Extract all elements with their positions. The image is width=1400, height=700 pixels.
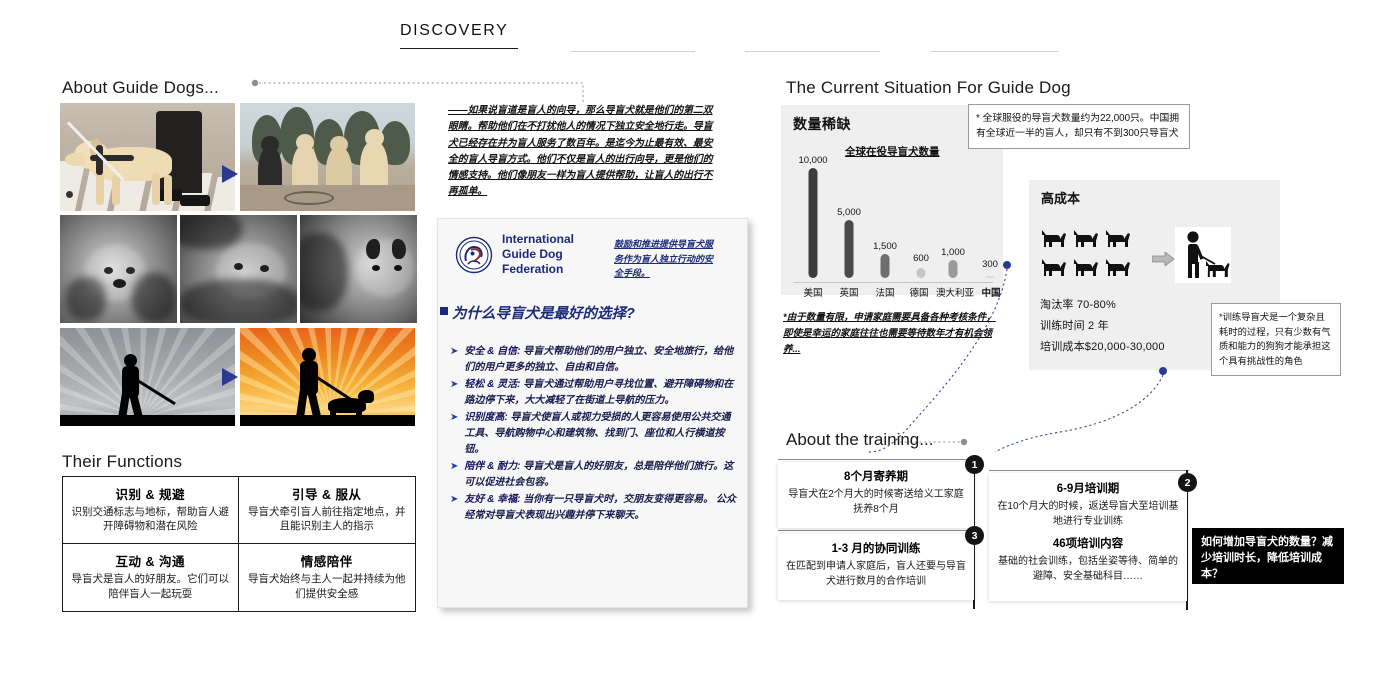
bar-rect bbox=[949, 260, 958, 278]
function-title: 识别 & 规避 bbox=[71, 484, 231, 503]
photo-blind-man-with-dog-sunset bbox=[240, 328, 415, 426]
table-row: 互动 & 沟通 导盲犬是盲人的好朋友。它们可以陪伴盲人一起玩耍 情感陪伴 导盲犬… bbox=[62, 544, 415, 612]
benefit-text: 轻松 & 灵活: 导盲犬通过帮助用户寻找位置、避开障碍物和在路边停下来，大大减轻… bbox=[464, 377, 740, 408]
blue-arrow-left-bottom bbox=[222, 368, 238, 386]
igdf-name-line: International bbox=[502, 232, 574, 247]
photo-dog-portrait-1 bbox=[60, 215, 177, 323]
title-underline bbox=[400, 48, 518, 49]
bar-value-label: 1,000 bbox=[941, 247, 965, 258]
question-bullet-square bbox=[440, 307, 448, 315]
chevron-right-icon: ➤ bbox=[450, 492, 458, 523]
list-item: ➤ 友好 & 幸福: 当你有一只导盲犬时，交朋友变得更容易。 公众经常对导盲犬表… bbox=[450, 492, 740, 523]
bar-rect bbox=[881, 254, 890, 278]
list-item: ➤ 安全 & 自信: 导盲犬帮助他们的用户独立、安全地旅行，给他们的用户更多的独… bbox=[450, 344, 740, 375]
bar-group-5: 300 bbox=[978, 158, 1002, 278]
benefit-text: 陪伴 & 耐力: 导盲犬是盲人的好朋友，总是陪伴他们旅行。这可以促进社会包容。 bbox=[464, 459, 740, 490]
dog-icon-row bbox=[1042, 226, 1136, 251]
bar-value-label: 300 bbox=[982, 259, 998, 270]
timeline-card-2: 6-9月培训期 在10个月大的时候，返送导盲犬至培训基地进行专业训练 46项培训… bbox=[989, 473, 1187, 601]
list-item: ➤ 轻松 & 灵活: 导盲犬通过帮助用户寻找位置、避开障碍物和在路边停下来，大大… bbox=[450, 377, 740, 408]
benefit-text: 友好 & 幸福: 当你有一只导盲犬时，交朋友变得更容易。 公众经常对导盲犬表现出… bbox=[464, 492, 740, 523]
cost-stats: 淘汰率 70-80% 训练时间 2 年 培训成本$20,000-30,000 bbox=[1040, 296, 1165, 359]
category-label: 中国 bbox=[981, 285, 1000, 299]
bar-group-0: 10,000 bbox=[801, 158, 825, 278]
igdf-name: International Guide Dog Federation bbox=[502, 232, 574, 277]
guide-dog-user-icon-box bbox=[1175, 227, 1231, 283]
bar-value-label: 600 bbox=[913, 253, 929, 264]
benefit-list: ➤ 安全 & 自信: 导盲犬帮助他们的用户独立、安全地旅行，给他们的用户更多的独… bbox=[450, 344, 740, 526]
bar-group-2: 1,500 bbox=[873, 158, 897, 278]
chevron-right-icon: ➤ bbox=[450, 377, 458, 408]
benefit-lead: 友好 & 幸福: bbox=[464, 494, 520, 505]
bar-rect bbox=[845, 220, 854, 278]
function-title: 互动 & 沟通 bbox=[71, 551, 231, 570]
note-limited-supply: *由于数量有限，申请家庭需要具备各种考核条件，即使是幸运的家庭往往也需要等待数年… bbox=[783, 310, 1001, 358]
bar-group-1: 5,000 bbox=[837, 158, 861, 278]
header-separator-1 bbox=[570, 51, 695, 52]
poster-page: DISCOVERY About Guide Dogs... bbox=[0, 0, 1400, 700]
high-cost-title: 高成本 bbox=[1041, 188, 1080, 207]
function-cell-0: 识别 & 规避 识别交通标志与地标，帮助盲人避开障碍物和潜在风险 bbox=[62, 476, 240, 545]
timeline-number-1: 1 bbox=[965, 455, 984, 474]
blue-arrow-left-top bbox=[222, 165, 238, 183]
function-cell-3: 情感陪伴 导盲犬始终与主人一起并持续为他们提供安全感 bbox=[238, 543, 416, 612]
function-cell-1: 引导 & 服从 导盲犬牵引盲人前往指定地点，并且能识别主人的指示 bbox=[238, 476, 416, 545]
category-label: 美国 bbox=[803, 285, 822, 299]
photo-guide-dogs-group bbox=[240, 103, 415, 211]
blind-person-with-dog-icon bbox=[1175, 227, 1231, 283]
chevron-right-icon: ➤ bbox=[450, 410, 458, 457]
category-label: 英国 bbox=[839, 285, 858, 299]
callout-global-numbers: * 全球服役的导盲犬数量约为22,000只。中国拥有全球近一半的盲人，却只有不到… bbox=[968, 104, 1190, 149]
arrow-right-icon bbox=[1152, 252, 1174, 266]
timeline-extra-body: 基础的社会训练，包括坐姿等待、简单的避障、安全基础科目…… bbox=[995, 554, 1181, 584]
timeline-body: 在匹配到申请人家庭后，盲人还要与导盲犬进行数月的合作培训 bbox=[784, 559, 968, 589]
timeline-rule-2 bbox=[989, 470, 1189, 471]
dog-icon bbox=[1106, 255, 1133, 280]
igdf-name-line: Guide Dog bbox=[502, 247, 574, 262]
functions-table: 识别 & 规避 识别交通标志与地标，帮助盲人避开障碍物和潜在风险 引导 & 服从… bbox=[62, 476, 415, 612]
chart-title: 全球在役导盲犬数量 bbox=[845, 144, 940, 159]
bar-rect bbox=[986, 276, 995, 278]
bar-value-label: 1,500 bbox=[873, 241, 897, 252]
why-question: 为什么导盲犬是最好的选择? bbox=[452, 302, 635, 323]
bar-rect bbox=[917, 268, 926, 278]
igdf-name-line: Federation bbox=[502, 262, 574, 277]
photo-blind-man-silhouette-gray bbox=[60, 328, 235, 426]
intro-note: ——如果说盲道是盲人的向导，那么导盲犬就是他们的第二双眼睛。帮助他们在不打扰他人… bbox=[448, 103, 718, 201]
table-row: 识别 & 规避 识别交通标志与地标，帮助盲人避开障碍物和潜在风险 引导 & 服从… bbox=[62, 476, 415, 544]
function-title: 引导 & 服从 bbox=[247, 484, 407, 503]
page-title: DISCOVERY bbox=[400, 22, 508, 40]
bar-rect bbox=[809, 168, 818, 278]
list-item: ➤ 陪伴 & 耐力: 导盲犬是盲人的好朋友，总是陪伴他们旅行。这可以促进社会包容… bbox=[450, 459, 740, 490]
bar-group-3: 600 bbox=[909, 158, 933, 278]
timeline-title: 6-9月培训期 bbox=[995, 480, 1181, 496]
timeline-rule-3 bbox=[778, 530, 974, 531]
chevron-right-icon: ➤ bbox=[450, 344, 458, 375]
benefit-lead: 轻松 & 灵活: bbox=[464, 379, 520, 390]
chart-category-labels: 美国 英国 法国 德国 澳大利亚 中国 bbox=[793, 285, 998, 299]
timeline-card-1: 8个月寄养期 导盲犬在2个月大的时候寄送给义工家庭抚养8个月 bbox=[778, 462, 974, 528]
igdf-logo-icon bbox=[455, 236, 493, 274]
igdf-block: International Guide Dog Federation bbox=[455, 232, 574, 277]
timeline-body: 导盲犬在2个月大的时候寄送给义工家庭抚养8个月 bbox=[784, 487, 968, 517]
photo-dog-portrait-3 bbox=[300, 215, 417, 323]
bar-value-label: 5,000 bbox=[837, 207, 861, 218]
dog-icon bbox=[1106, 226, 1133, 251]
igdf-mission-note: 鼓励和推进提供导盲犬服务作为盲人独立行动的安全手段。 bbox=[614, 237, 719, 281]
bar-value-label: 10,000 bbox=[798, 155, 827, 166]
benefit-text: 识别度高: 导盲犬使盲人或视力受损的人更容易使用公共交通工具、导航购物中心和建筑… bbox=[464, 410, 740, 457]
timeline-extra-title: 46项培训内容 bbox=[995, 535, 1181, 551]
current-situation-title: The Current Situation For Guide Dog bbox=[786, 78, 1071, 98]
benefit-lead: 陪伴 & 耐力: bbox=[464, 461, 520, 472]
photo-guide-dog-crosswalk bbox=[60, 103, 235, 211]
function-body: 导盲犬牵引盲人前往指定地点，并且能识别主人的指示 bbox=[247, 505, 407, 535]
bar-group-4: 1,000 bbox=[941, 158, 965, 278]
list-item: ➤ 识别度高: 导盲犬使盲人或视力受损的人更容易使用公共交通工具、导航购物中心和… bbox=[450, 410, 740, 457]
header-separator-3 bbox=[930, 51, 1058, 52]
benefit-text: 安全 & 自信: 导盲犬帮助他们的用户独立、安全地旅行，给他们的用户更多的独立、… bbox=[464, 344, 740, 375]
benefit-lead: 安全 & 自信: bbox=[464, 346, 520, 357]
function-title: 情感陪伴 bbox=[247, 551, 407, 570]
final-question-box: 如何增加导盲犬的数量？减少培训时长，降低培训成本？ bbox=[1192, 528, 1344, 584]
benefit-lead: 识别度高: bbox=[464, 412, 507, 423]
timeline-rule-1 bbox=[778, 459, 974, 460]
timeline-number-3: 3 bbox=[965, 526, 984, 545]
dog-icon bbox=[1042, 226, 1069, 251]
function-body: 识别交通标志与地标，帮助盲人避开障碍物和潜在风险 bbox=[71, 505, 231, 535]
function-body: 导盲犬是盲人的好朋友。它们可以陪伴盲人一起玩耍 bbox=[71, 572, 231, 602]
dog-icon-row bbox=[1042, 255, 1136, 280]
cost-stat: 训练时间 2 年 bbox=[1040, 317, 1165, 333]
category-label: 澳大利亚 bbox=[936, 285, 974, 299]
dog-icon bbox=[1042, 255, 1069, 280]
function-body: 导盲犬始终与主人一起并持续为他们提供安全感 bbox=[247, 572, 407, 602]
photo-dog-portrait-2 bbox=[180, 215, 297, 323]
dog-icon bbox=[1074, 226, 1101, 251]
their-functions-title: Their Functions bbox=[62, 452, 182, 472]
timeline-title: 1-3 月的协同训练 bbox=[784, 540, 968, 556]
header-separator-2 bbox=[745, 51, 880, 52]
timeline-body: 在10个月大的时候，返送导盲犬至培训基地进行专业训练 bbox=[995, 499, 1181, 529]
category-label: 德国 bbox=[909, 285, 928, 299]
cost-stat: 淘汰率 70-80% bbox=[1040, 296, 1165, 312]
scarcity-heading: 数量稀缺 bbox=[793, 114, 851, 134]
dog-icons-group bbox=[1042, 226, 1136, 284]
about-training-title: About the training... bbox=[786, 430, 933, 450]
timeline-card-3: 1-3 月的协同训练 在匹配到申请人家庭后，盲人还要与导盲犬进行数月的合作培训 bbox=[778, 534, 974, 600]
callout-training-difficulty: *训练导盲犬是一个复杂且耗时的过程，只有少数有气质和能力的狗狗才能承担这个具有挑… bbox=[1211, 303, 1341, 376]
chart-axis-line bbox=[793, 282, 993, 283]
timeline-number-2: 2 bbox=[1178, 473, 1197, 492]
chevron-right-icon: ➤ bbox=[450, 459, 458, 490]
function-cell-2: 互动 & 沟通 导盲犬是盲人的好朋友。它们可以陪伴盲人一起玩耍 bbox=[62, 543, 240, 612]
category-label: 法国 bbox=[875, 285, 894, 299]
dog-icon bbox=[1074, 255, 1101, 280]
about-guide-dogs-title: About Guide Dogs... bbox=[62, 78, 219, 98]
cost-stat: 培训成本$20,000-30,000 bbox=[1040, 338, 1165, 354]
bar-chart: 10,000 5,000 1,500 600 1,000 300 bbox=[793, 158, 998, 278]
timeline-title: 8个月寄养期 bbox=[784, 468, 968, 484]
